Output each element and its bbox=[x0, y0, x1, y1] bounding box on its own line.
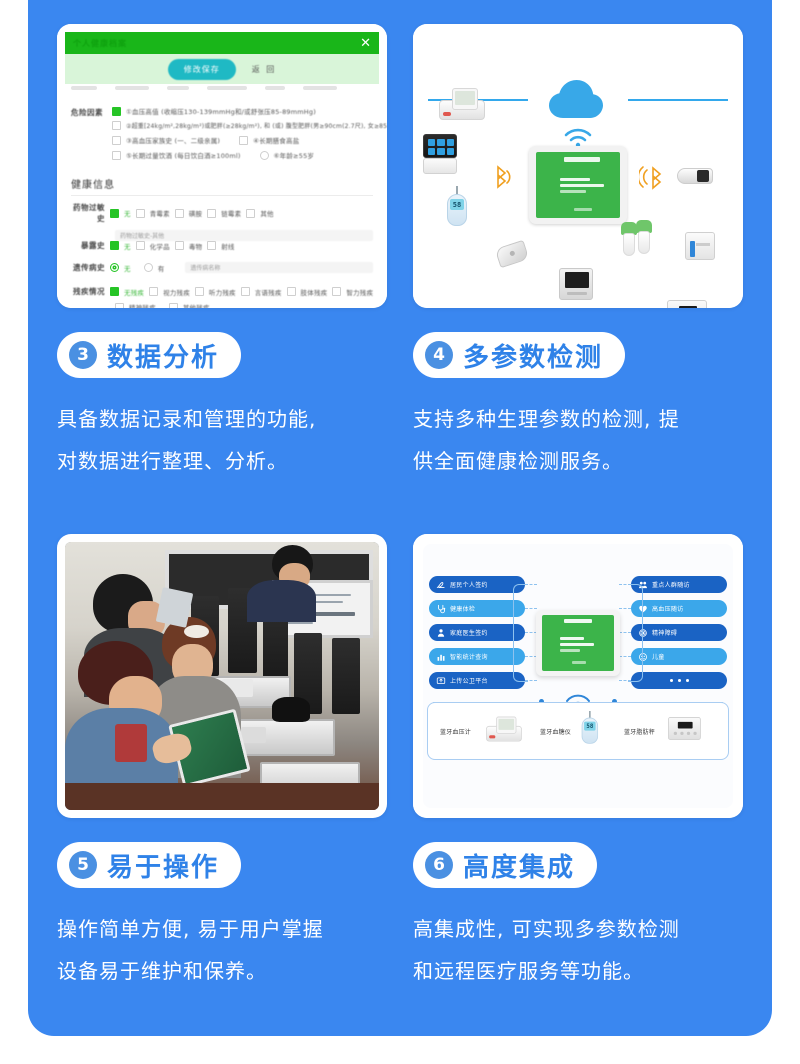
checkbox-risk-0[interactable] bbox=[112, 107, 121, 116]
feature-title-3: 数据分析 bbox=[107, 337, 219, 374]
checkbox-exposure-3[interactable] bbox=[207, 241, 216, 250]
control-panel-base-icon bbox=[423, 158, 457, 174]
checkbox-risk-3[interactable] bbox=[239, 136, 248, 145]
chip-right-0[interactable]: 重点人群随访 bbox=[631, 576, 727, 593]
exposure-option-1: 化学品 bbox=[150, 241, 170, 251]
checkbox-disability-6[interactable] bbox=[115, 303, 124, 309]
feature-desc-4-line-2: 供全面健康检测服务。 bbox=[413, 440, 731, 482]
feature-desc-6-line-1: 高集成性, 可实现多参数检测 bbox=[413, 908, 731, 950]
bracket-left bbox=[513, 584, 528, 682]
signal-icon bbox=[639, 164, 665, 190]
dash-r0 bbox=[619, 584, 631, 585]
iot-diagram: 58 bbox=[413, 24, 743, 308]
close-icon[interactable]: ✕ bbox=[360, 37, 371, 50]
chip-right-3[interactable]: 儿童 bbox=[631, 648, 727, 665]
bt-device-label-2: 蓝牙脂肪秤 bbox=[624, 727, 655, 736]
training-photo bbox=[65, 542, 379, 810]
form-toolbar: 修改保存 返 回 bbox=[65, 54, 379, 84]
checkbox-risk-4[interactable] bbox=[112, 151, 121, 160]
checkbox-disability-7[interactable] bbox=[169, 303, 178, 309]
risk-option-3: ④长期膳食高盐 bbox=[253, 135, 299, 145]
row-label-hereditary: 遗传病史 bbox=[71, 262, 105, 273]
chip-right-label-3: 儿童 bbox=[652, 652, 665, 661]
feature-title-4: 多参数检测 bbox=[463, 337, 603, 374]
heading-pill-3: 3 数据分析 bbox=[57, 332, 241, 378]
row-disability: 残疾情况 无残疾 视力残疾 听力残疾 言语残疾 肢体残疾 智力残疾 精 bbox=[71, 286, 373, 308]
chip-left-label-3: 智能统计查询 bbox=[450, 652, 488, 661]
exposure-option-0: 无 bbox=[124, 241, 131, 251]
control-panel-icon bbox=[423, 134, 457, 158]
chip-right-4-more[interactable] bbox=[631, 672, 727, 689]
heading-pill-5: 5 易于操作 bbox=[57, 842, 241, 888]
bt-device-label-0: 蓝牙血压计 bbox=[440, 727, 471, 736]
chip-left-1[interactable]: 健康体检 bbox=[429, 600, 525, 617]
form-ghost-fields bbox=[71, 86, 371, 96]
card-reader-icon bbox=[495, 240, 530, 268]
card-high-integration: 居民个人签约 健康体检 家庭医生签约 智能统计查询 上传公卫平台 重点人群 bbox=[413, 534, 743, 818]
save-button[interactable]: 修改保存 bbox=[168, 59, 236, 80]
row-label-exposure: 暴露史 bbox=[71, 240, 105, 251]
glucose-meter-icon: 58 bbox=[445, 186, 469, 226]
signature-icon bbox=[436, 580, 446, 590]
form-titlebar: 个人健康档案 ✕ bbox=[65, 32, 379, 54]
chip-left-3[interactable]: 智能统计查询 bbox=[429, 648, 525, 665]
feature-desc-5-line-2: 设备易于维护和保养。 bbox=[57, 950, 375, 992]
card-easy-operation bbox=[57, 534, 387, 818]
feature-number-4: 4 bbox=[425, 341, 453, 369]
disability-option-7: 其他残疾 bbox=[183, 302, 210, 308]
risk-section-label: 危险因素 bbox=[71, 106, 105, 118]
bt-device-label-1: 蓝牙血糖仪 bbox=[540, 727, 571, 736]
integration-diagram: 居民个人签约 健康体检 家庭医生签约 智能统计查询 上传公卫平台 重点人群 bbox=[413, 534, 743, 818]
stethoscope-icon bbox=[436, 604, 446, 614]
heading-pill-4: 4 多参数检测 bbox=[413, 332, 625, 378]
chip-right-label-2: 精神障碍 bbox=[652, 628, 677, 637]
row-drug-allergy: 药物过敏史 无 青霉素 磺胺 链霉素 其他 药物过敏史-其他 bbox=[71, 202, 373, 241]
disability-option-3: 言语残疾 bbox=[255, 287, 282, 297]
health-record-form: 个人健康档案 ✕ 修改保存 返 回 危险因素 ①血压高值 (收缩压130-139… bbox=[57, 24, 387, 308]
risk-option-2: ③高血压家族史 (一、二级亲属) bbox=[126, 135, 220, 145]
feature-desc-3-line-1: 具备数据记录和管理的功能, bbox=[57, 398, 375, 440]
radio-hereditary-1[interactable] bbox=[144, 263, 153, 272]
chip-right-label-1: 高血压随访 bbox=[652, 604, 684, 613]
chip-left-0[interactable]: 居民个人签约 bbox=[429, 576, 525, 593]
chip-right-2[interactable]: 精神障碍 bbox=[631, 624, 727, 641]
feature-desc-3-line-2: 对数据进行整理、分析。 bbox=[57, 440, 375, 482]
dash-l0 bbox=[525, 584, 537, 585]
page-root: 个人健康档案 ✕ 修改保存 返 回 危险因素 ①血压高值 (收缩压130-139… bbox=[0, 0, 800, 1064]
allergy-option-0: 无 bbox=[124, 208, 131, 218]
divider bbox=[71, 195, 373, 196]
checkbox-disability-0[interactable] bbox=[110, 287, 119, 296]
chip-left-label-2: 家庭医生签约 bbox=[450, 628, 488, 637]
feature-desc-4-line-1: 支持多种生理参数的检测, 提 bbox=[413, 398, 731, 440]
connector-line-right bbox=[628, 99, 728, 101]
hereditary-option-1: 有 bbox=[158, 263, 165, 273]
wifi-icon bbox=[563, 128, 593, 148]
dash-r4 bbox=[619, 680, 631, 681]
disability-option-6: 精神残疾 bbox=[129, 302, 156, 308]
card-data-analysis: 个人健康档案 ✕ 修改保存 返 回 危险因素 ①血压高值 (收缩压130-139… bbox=[57, 24, 387, 308]
computer-terminal-icon bbox=[559, 268, 593, 300]
allergy-option-2: 磺胺 bbox=[189, 208, 202, 218]
chip-right-1[interactable]: 高血压随访 bbox=[631, 600, 727, 617]
checkbox-exposure-2[interactable] bbox=[175, 241, 184, 250]
checkbox-disability-4[interactable] bbox=[287, 287, 296, 296]
card-multiparameter-detection: 58 bbox=[413, 24, 743, 308]
checkbox-allergy-2[interactable] bbox=[175, 209, 184, 218]
feature-desc-6: 高集成性, 可实现多参数检测 和远程医疗服务等功能。 bbox=[413, 908, 731, 992]
health-info-heading: 健康信息 bbox=[71, 176, 373, 196]
infrared-thermometer-icon bbox=[621, 220, 655, 254]
pulse-oximeter-icon bbox=[677, 166, 713, 186]
radio-risk-5[interactable] bbox=[260, 151, 269, 160]
chart-icon bbox=[436, 652, 446, 662]
row-label-drug-allergy: 药物过敏史 bbox=[71, 202, 105, 224]
allergy-option-4: 其他 bbox=[260, 208, 273, 218]
feature-desc-6-line-2: 和远程医疗服务等功能。 bbox=[413, 950, 731, 992]
chip-left-label-0: 居民个人签约 bbox=[450, 580, 488, 589]
form-window-title: 个人健康档案 bbox=[73, 38, 127, 49]
exposure-option-3: 射线 bbox=[221, 241, 234, 251]
cloud-icon bbox=[546, 76, 610, 120]
disability-option-0: 无残疾 bbox=[124, 287, 144, 297]
back-button[interactable]: 返 回 bbox=[252, 64, 277, 75]
checkbox-disability-2[interactable] bbox=[195, 287, 204, 296]
chip-left-4[interactable]: 上传公卫平台 bbox=[429, 672, 525, 689]
risk-option-5: ⑥年龄≥55岁 bbox=[274, 150, 314, 160]
dash-r2 bbox=[619, 632, 631, 633]
allergy-option-1: 青霉素 bbox=[150, 208, 170, 218]
checkbox-exposure-1[interactable] bbox=[136, 241, 145, 250]
feature-number-5: 5 bbox=[69, 851, 97, 879]
disability-option-5: 智力残疾 bbox=[346, 287, 373, 297]
fat-scale-icon bbox=[668, 717, 701, 740]
dash-l4 bbox=[525, 680, 537, 681]
upload-icon bbox=[436, 676, 446, 686]
checkbox-risk-1[interactable] bbox=[112, 121, 121, 130]
chip-right-label-0: 重点人群随访 bbox=[652, 580, 690, 589]
row-hereditary: 遗传病史 无 有 遗传病名称 bbox=[71, 262, 373, 273]
disability-option-2: 听力残疾 bbox=[209, 287, 236, 297]
integration-tablet-screen bbox=[542, 615, 614, 671]
chip-left-label-4: 上传公卫平台 bbox=[450, 676, 488, 685]
bp-monitor-icon bbox=[486, 715, 522, 742]
checkbox-disability-1[interactable] bbox=[149, 287, 158, 296]
risk-option-0: ①血压高值 (收缩压130-139mmHg和/或舒张压85-89mmHg) bbox=[126, 106, 316, 116]
row-label-disability: 残疾情况 bbox=[71, 286, 105, 297]
feature-desc-5-line-1: 操作简单方便, 易于用户掌握 bbox=[57, 908, 375, 950]
disability-option-1: 视力残疾 bbox=[163, 287, 190, 297]
hereditary-option-0: 无 bbox=[124, 263, 131, 273]
blood-pressure-monitor-icon bbox=[439, 86, 485, 120]
printer-icon bbox=[685, 232, 715, 260]
integration-tablet[interactable] bbox=[536, 610, 620, 676]
heading-pill-6: 6 高度集成 bbox=[413, 842, 597, 888]
glucose-meter-icon-2: 58 bbox=[580, 711, 600, 744]
dash-r1 bbox=[619, 608, 631, 609]
chip-left-label-1: 健康体检 bbox=[450, 604, 475, 613]
more-dots-icon bbox=[670, 679, 689, 682]
feature-title-5: 易于操作 bbox=[107, 847, 219, 884]
bracket-right bbox=[628, 584, 643, 682]
doctor-icon bbox=[436, 628, 446, 638]
checkbox-exposure-0[interactable] bbox=[110, 241, 119, 250]
checkbox-allergy-3[interactable] bbox=[207, 209, 216, 218]
hereditary-name-input[interactable]: 遗传病名称 bbox=[185, 262, 373, 273]
feature-number-3: 3 bbox=[69, 341, 97, 369]
feature-desc-3: 具备数据记录和管理的功能, 对数据进行整理、分析。 bbox=[57, 398, 375, 482]
checkbox-allergy-0[interactable] bbox=[110, 209, 119, 218]
feature-desc-4: 支持多种生理参数的检测, 提 供全面健康检测服务。 bbox=[413, 398, 731, 482]
radio-hereditary-0[interactable] bbox=[110, 263, 119, 272]
dash-l1 bbox=[525, 608, 537, 609]
risk-factor-section: 危险因素 ①血压高值 (收缩压130-139mmHg和/或舒张压85-89mmH… bbox=[71, 106, 373, 160]
dash-r3 bbox=[619, 656, 631, 657]
checkbox-disability-3[interactable] bbox=[241, 287, 250, 296]
feature-number-6: 6 bbox=[425, 851, 453, 879]
chip-left-2[interactable]: 家庭医生签约 bbox=[429, 624, 525, 641]
allergy-option-3: 链霉素 bbox=[221, 208, 241, 218]
checkbox-risk-2[interactable] bbox=[112, 136, 121, 145]
bluetooth-icon bbox=[491, 164, 513, 190]
tablet-screen bbox=[536, 152, 620, 218]
checkbox-disability-5[interactable] bbox=[332, 287, 341, 296]
checkbox-allergy-4[interactable] bbox=[246, 209, 255, 218]
feature-title-6: 高度集成 bbox=[463, 847, 575, 884]
risk-option-4: ⑤长期过量饮酒 (每日饮白酒≥100ml) bbox=[126, 150, 241, 160]
ecg-analyzer-icon bbox=[667, 300, 707, 308]
checkbox-allergy-1[interactable] bbox=[136, 209, 145, 218]
health-info-title: 健康信息 bbox=[71, 176, 373, 191]
disability-option-4: 肢体残疾 bbox=[301, 287, 328, 297]
bluetooth-device-row: 蓝牙血压计 蓝牙血糖仪 58 蓝牙脂肪秤 bbox=[427, 702, 729, 760]
central-tablet[interactable] bbox=[529, 146, 627, 224]
feature-desc-5: 操作简单方便, 易于用户掌握 设备易于维护和保养。 bbox=[57, 908, 375, 992]
exposure-option-2: 毒物 bbox=[189, 241, 202, 251]
risk-option-1: ②超重[24kg/m²,28kg/m²)或肥胖(≥28kg/m²), 和 (或)… bbox=[126, 121, 387, 130]
row-exposure: 暴露史 无 化学品 毒物 射线 bbox=[71, 240, 373, 251]
